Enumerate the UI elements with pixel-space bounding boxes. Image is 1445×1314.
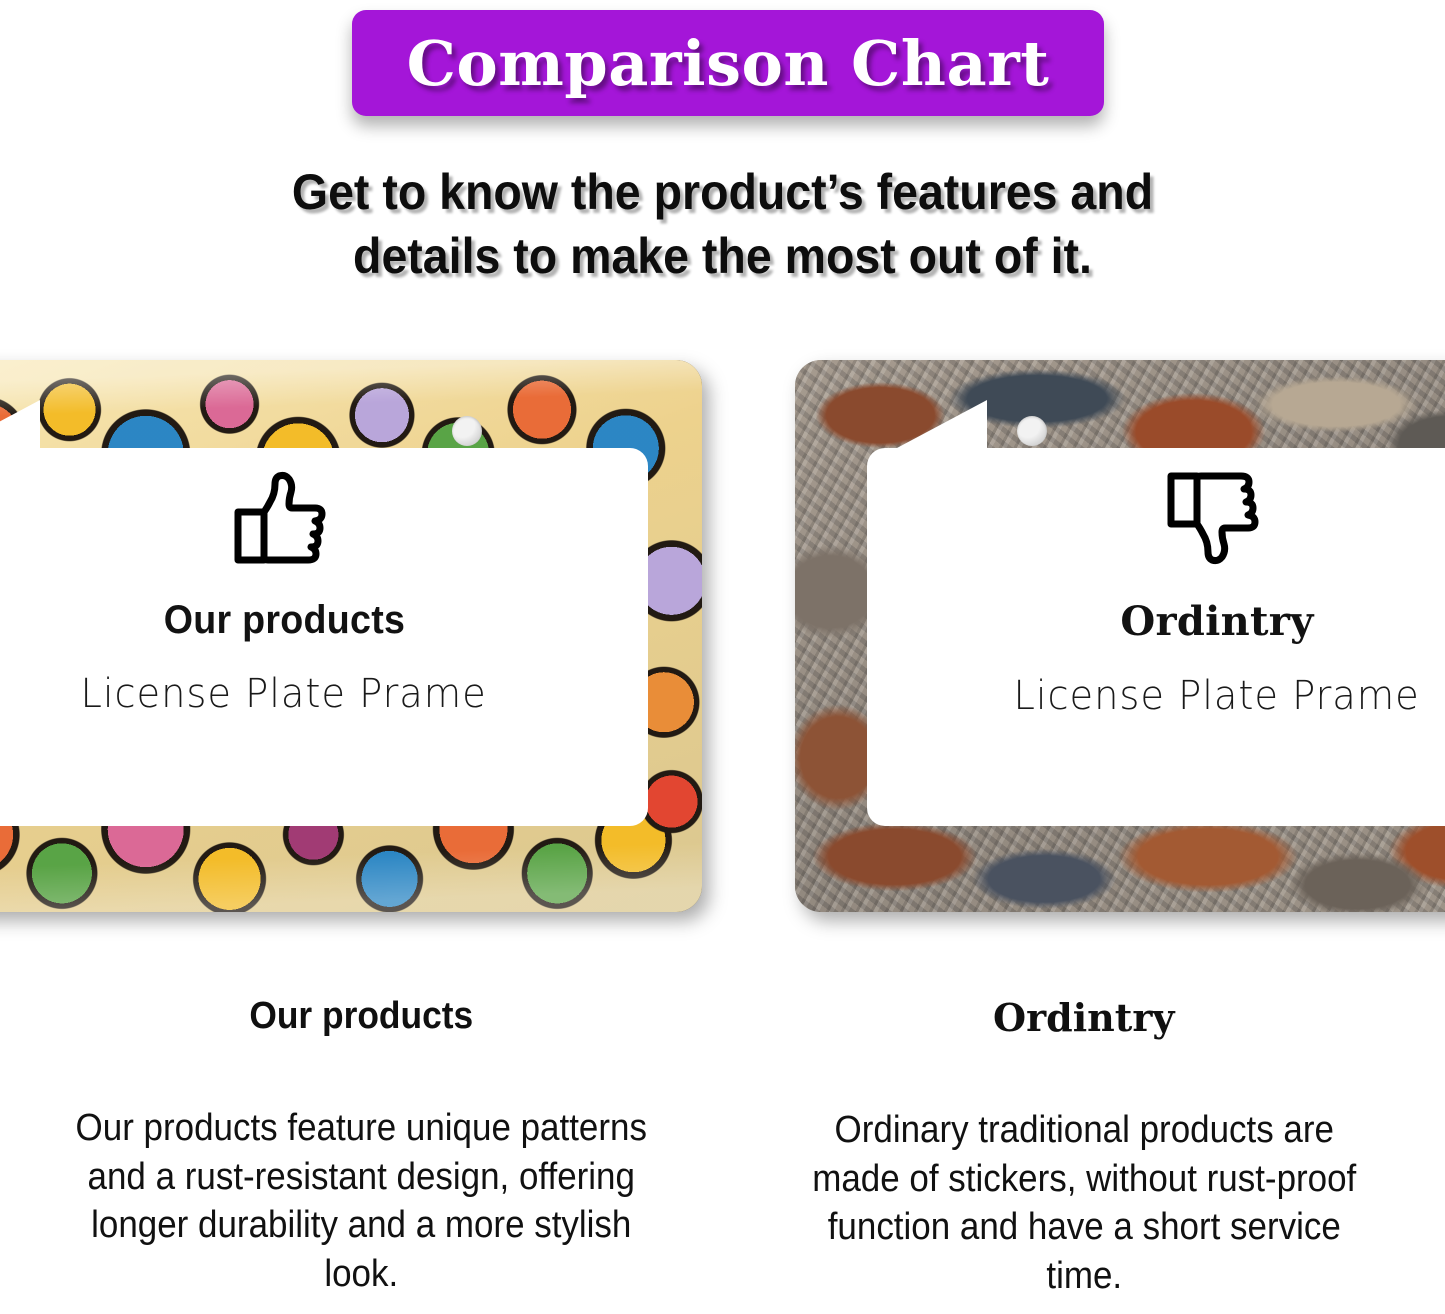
comparison-detail-right: Ordintry Ordinary traditional products a…: [723, 995, 1445, 1301]
thumbs-up-icon: [232, 468, 336, 568]
card-content-left: Our products License Plate Prame: [0, 468, 648, 717]
page-subtitle: Get to know the product’s features and d…: [51, 160, 1395, 288]
detail-heading-right: Ordintry: [769, 995, 1400, 1040]
thumbs-down-icon: [1165, 468, 1269, 568]
comparison-chart-title-badge: Comparison Chart: [352, 10, 1104, 116]
mounting-hole-icon: [1017, 416, 1047, 446]
subtitle-line-1: Get to know the product’s features and: [51, 160, 1395, 224]
mounting-hole-icon: [452, 416, 482, 446]
product-card-our-products: Our products License Plate Prame: [0, 360, 702, 912]
card-title-right: Ordintry: [1120, 598, 1313, 645]
card-content-right: Ordintry License Plate Prame: [867, 468, 1445, 719]
product-card-ordintry: Ordintry License Plate Prame: [795, 360, 1445, 912]
comparison-detail-left: Our products Our products feature unique…: [0, 995, 723, 1301]
comparison-detail-row: Our products Our products feature unique…: [0, 995, 1445, 1301]
page-title: Comparison Chart: [407, 27, 1050, 100]
card-title-left: Our products: [163, 598, 405, 643]
subtitle-line-2: details to make the most out of it.: [51, 224, 1395, 288]
card-subtitle-right: License Plate Prame: [1014, 673, 1420, 719]
card-subtitle-left: License Plate Prame: [81, 671, 487, 717]
detail-body-right: Ordinary traditional products are made o…: [794, 1106, 1374, 1301]
detail-body-left: Our products feature unique patterns and…: [71, 1104, 651, 1299]
detail-heading-left: Our products: [68, 995, 654, 1038]
